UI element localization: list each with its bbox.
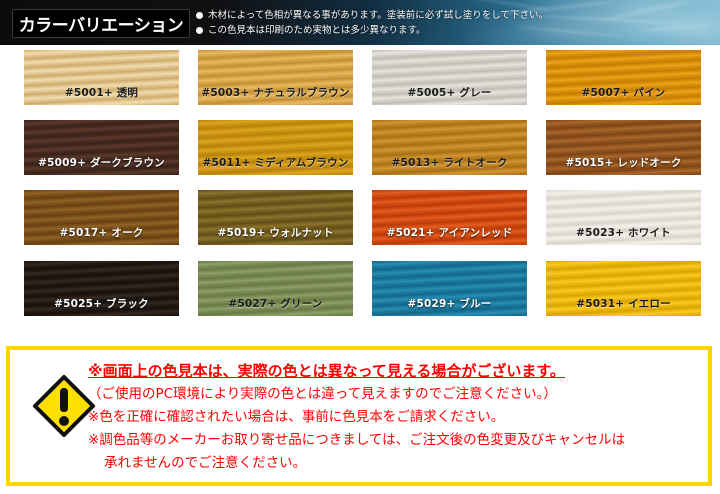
swatch-label: #5003+ ナチュラルブラウン (198, 85, 353, 100)
color-swatch[interactable]: #5021+ アイアンレッド (372, 190, 527, 245)
color-swatch-grid: #5001+ 透明#5003+ ナチュラルブラウン#5005+ グレー#5007… (0, 50, 720, 335)
swatch-label: #5031+ イエロー (546, 296, 701, 311)
swatch-label: #5015+ レッドオーク (546, 155, 701, 170)
water-texture-streak (640, 24, 710, 33)
color-swatch[interactable]: #5001+ 透明 (24, 50, 179, 105)
header-note-text: 木材によって色相が異なる事があります。塗装前に必ず試し塗りをして下さい。 (208, 9, 548, 22)
disclaimer-notice-box: ※画面上の色見本は、実際の色とは異なって見える場合がございます。（ご使用のPC環… (6, 346, 712, 486)
header-note-text: この色見本は印刷のため実物とは多少異なります。 (208, 24, 426, 37)
color-swatch[interactable]: #5027+ グリーン (198, 261, 353, 316)
disclaimer-text-block: ※画面上の色見本は、実際の色とは異なって見える場合がございます。（ご使用のPC環… (88, 360, 700, 475)
color-swatch[interactable]: #5029+ ブルー (372, 261, 527, 316)
header-note-item: 木材によって色相が異なる事があります。塗装前に必ず試し塗りをして下さい。 (196, 9, 626, 22)
color-swatch[interactable]: #5023+ ホワイト (546, 190, 701, 245)
page-header: カラーバリエーション 木材によって色相が異なる事があります。塗装前に必ず試し塗り… (0, 0, 720, 45)
bullet-dot-icon (196, 27, 203, 34)
color-swatch[interactable]: #5015+ レッドオーク (546, 120, 701, 175)
color-swatch[interactable]: #5009+ ダークブラウン (24, 120, 179, 175)
page-title: カラーバリエーション (19, 11, 184, 36)
disclaimer-line: ※調色品等のメーカーお取り寄せ品につきましては、ご注文後の色変更及びキャンセルは (88, 429, 700, 452)
disclaimer-line: ※色を正確に確認されたい場合は、事前に色見本をご請求ください。 (88, 406, 700, 429)
color-variation-page: カラーバリエーション 木材によって色相が異なる事があります。塗装前に必ず試し塗り… (0, 0, 720, 494)
swatch-label: #5013+ ライトオーク (372, 155, 527, 170)
swatch-label: #5021+ アイアンレッド (372, 225, 527, 240)
disclaimer-line: ※画面上の色見本は、実際の色とは異なって見える場合がございます。 (88, 360, 700, 383)
swatch-label: #5007+ パイン (546, 85, 701, 100)
swatch-label: #5017+ オーク (24, 225, 179, 240)
swatch-label: #5029+ ブルー (372, 296, 527, 311)
disclaimer-line: 承れませんのでご注意ください。 (88, 452, 700, 475)
swatch-label: #5001+ 透明 (24, 85, 179, 100)
color-swatch[interactable]: #5011+ ミディアムブラウン (198, 120, 353, 175)
color-swatch[interactable]: #5005+ グレー (372, 50, 527, 105)
swatch-label: #5009+ ダークブラウン (24, 155, 179, 170)
color-swatch[interactable]: #5013+ ライトオーク (372, 120, 527, 175)
swatch-label: #5025+ ブラック (24, 296, 179, 311)
page-title-plate: カラーバリエーション (12, 9, 190, 38)
disclaimer-line: （ご使用のPC環境により実際の色とは違って見えますのでご注意ください。） (88, 383, 700, 406)
color-swatch[interactable]: #5019+ ウォルナット (198, 190, 353, 245)
swatch-label: #5019+ ウォルナット (198, 225, 353, 240)
color-swatch[interactable]: #5007+ パイン (546, 50, 701, 105)
color-swatch[interactable]: #5017+ オーク (24, 190, 179, 245)
header-notes-list: 木材によって色相が異なる事があります。塗装前に必ず試し塗りをして下さい。 この色… (196, 9, 626, 39)
swatch-label: #5023+ ホワイト (546, 225, 701, 240)
swatch-label: #5005+ グレー (372, 85, 527, 100)
header-note-item: この色見本は印刷のため実物とは多少異なります。 (196, 24, 626, 37)
bullet-dot-icon (196, 12, 203, 19)
color-swatch[interactable]: #5025+ ブラック (24, 261, 179, 316)
color-swatch[interactable]: #5031+ イエロー (546, 261, 701, 316)
color-swatch[interactable]: #5003+ ナチュラルブラウン (198, 50, 353, 105)
swatch-label: #5027+ グリーン (198, 296, 353, 311)
swatch-label: #5011+ ミディアムブラウン (198, 155, 353, 170)
warning-triangle-icon (32, 374, 96, 438)
